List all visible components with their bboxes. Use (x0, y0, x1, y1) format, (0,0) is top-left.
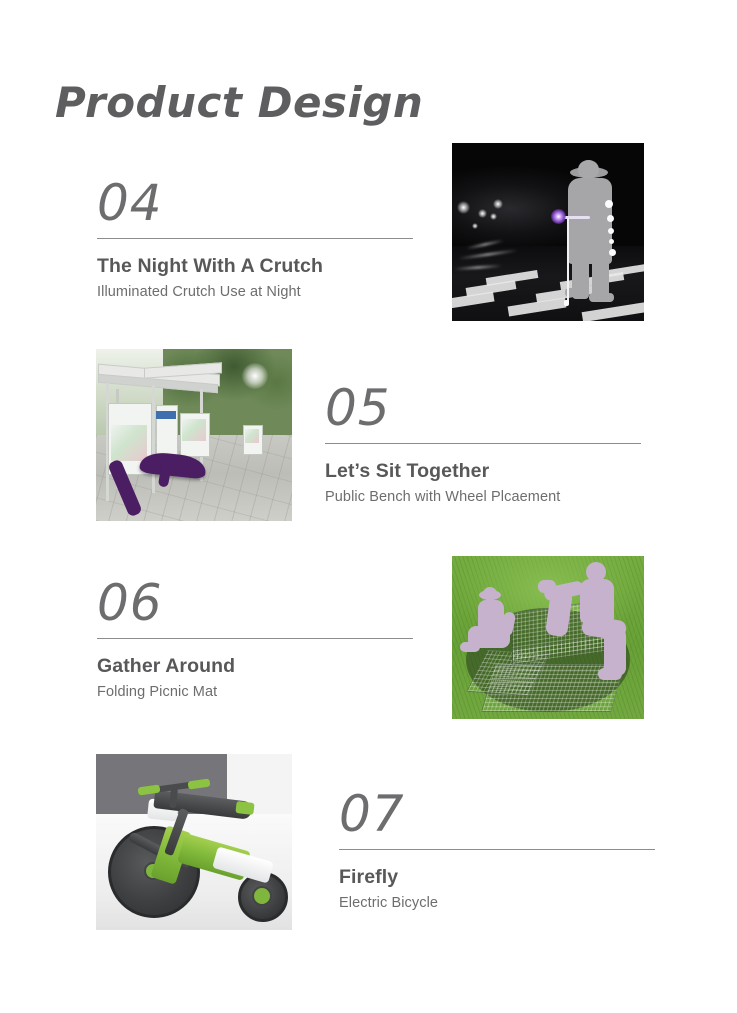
entry-divider (97, 638, 413, 639)
entry-number: 04 (97, 178, 417, 228)
bus-stop-bench-photo (96, 349, 292, 521)
entry-divider (97, 238, 413, 239)
entry-number: 06 (97, 578, 417, 628)
night-crutch-photo (452, 143, 644, 321)
info-board-poster (182, 419, 206, 441)
front-hub (252, 886, 272, 906)
entry-title: Gather Around (97, 655, 417, 678)
route-sign (156, 411, 176, 419)
entry-title: Let’s Sit Together (325, 460, 645, 483)
figure-foot (460, 642, 480, 652)
night-sky (452, 143, 644, 253)
reflective-dot (609, 239, 614, 244)
entry-04-text: 04 The Night With A Crutch Illuminated C… (97, 178, 417, 300)
reflective-dot (605, 200, 613, 208)
pedestrian-leg (592, 255, 609, 297)
reflective-dot (607, 215, 614, 222)
entry-subtitle: Illuminated Crutch Use at Night (97, 284, 417, 300)
portfolio-index-page: Product Design (0, 0, 737, 1013)
reflective-dot (609, 249, 616, 256)
street-light-icon (490, 213, 497, 220)
seat-green-tip (235, 801, 254, 815)
figure-head (483, 587, 497, 601)
shelter-post (152, 385, 155, 493)
entry-title: The Night With A Crutch (97, 255, 417, 278)
shelter-poster (111, 425, 147, 461)
pedestrian-head (578, 160, 599, 179)
entry-07-text: 07 Firefly Electric Bicycle (339, 789, 659, 911)
crutch-shaft (567, 217, 569, 303)
entry-07: 07 Firefly Electric Bicycle (0, 0, 196, 176)
electric-bicycle-photo (96, 754, 292, 930)
entry-number: 07 (339, 789, 659, 839)
street-light-icon (457, 201, 470, 214)
reflective-dot (608, 228, 614, 234)
entry-05-text: 05 Let’s Sit Together Public Bench with … (325, 383, 645, 505)
sun-flare-icon (242, 363, 268, 389)
pedestrian-coat (568, 178, 612, 264)
figure-foot (598, 668, 622, 680)
crutch-light-glow (551, 209, 566, 224)
entry-number: 05 (325, 383, 645, 433)
crutch-tip (564, 300, 569, 306)
entry-06-text: 06 Gather Around Folding Picnic Mat (97, 578, 417, 700)
entry-subtitle: Electric Bicycle (339, 895, 659, 911)
pedestrian-shoe (589, 293, 614, 302)
entry-title: Firefly (339, 866, 659, 889)
picnic-mat-photo (452, 556, 644, 719)
entry-divider (325, 443, 641, 444)
entry-subtitle: Public Bench with Wheel Plcaement (325, 489, 645, 505)
street-light-icon (472, 223, 478, 229)
distant-board-poster (245, 429, 259, 443)
street-light-icon (493, 199, 503, 209)
entry-divider (339, 849, 655, 850)
street-light-icon (478, 209, 487, 218)
entry-subtitle: Folding Picnic Mat (97, 684, 417, 700)
